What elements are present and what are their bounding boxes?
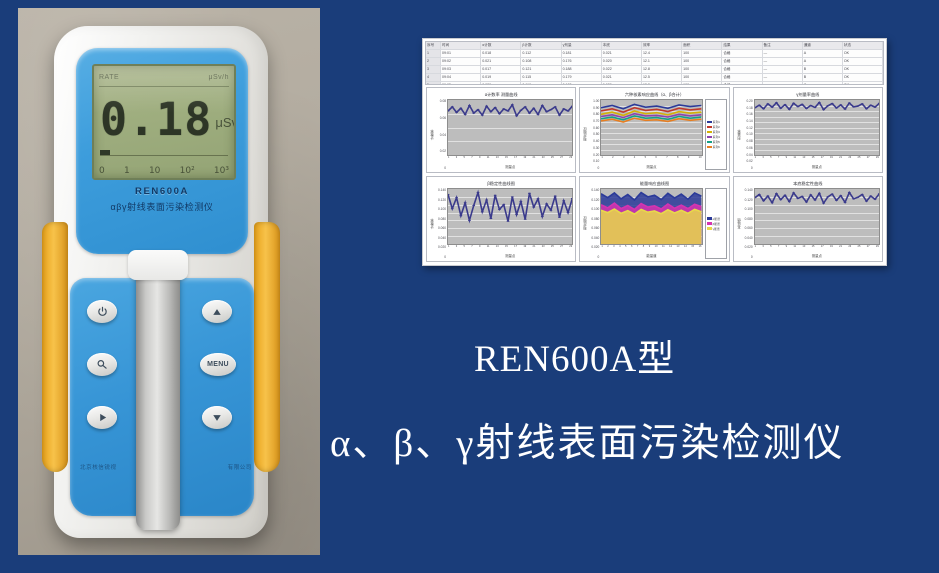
chart-data-point <box>494 195 497 196</box>
chart-data-point <box>826 105 829 106</box>
chart-x-tick: 17 <box>821 156 824 164</box>
chart-x-tick: 7 <box>666 156 667 164</box>
chart-data-point <box>448 194 449 195</box>
chart-body: 计数率0.080.060.040.02013579111315171921232… <box>429 99 573 170</box>
chart-data-point <box>528 112 531 113</box>
chart-data-point <box>822 202 825 203</box>
chart-x-tick: 6 <box>655 156 656 164</box>
chart-data-point <box>507 110 510 111</box>
chart-data-point <box>485 106 488 107</box>
lcd-display: RATE μSv/h 0.18 μSv/h 011010²10³ <box>92 64 236 180</box>
chart-data-point <box>757 194 760 195</box>
chart-x-tick: 8 <box>677 156 678 164</box>
chart-y-tick: 0.040 <box>591 236 599 240</box>
chart-x-tick: 11 <box>793 156 796 164</box>
chart-data-point <box>830 103 833 104</box>
chart-y-tick: 0.060 <box>745 226 753 230</box>
chart-x-axis-label: 测量点 <box>447 164 573 170</box>
chart-y-tick: 0 <box>444 166 446 170</box>
chart-x-tick: 15 <box>812 156 815 164</box>
chart-x-tick: 1 <box>601 245 602 253</box>
table-header-cell: 时间 <box>441 42 481 49</box>
chart-x-tick: 13 <box>496 245 499 253</box>
table-cell: — <box>763 58 803 65</box>
chart-legend-item: γ能谱 <box>707 227 725 231</box>
chart-x-tick: 1 <box>755 156 756 164</box>
chart-y-tick: 0.020 <box>591 245 599 249</box>
table-cell: 0.110 <box>521 82 561 85</box>
chart-legend-swatch <box>707 126 712 129</box>
chart-series-系列1 <box>601 104 701 108</box>
chart-data-point <box>532 206 535 207</box>
chart-plot-column: 1357911131517192123252729测量点 <box>754 99 880 170</box>
chart-title: α计数率 测量曲线 <box>429 90 573 99</box>
chart-data-point <box>766 195 769 196</box>
chart-x-tick: 5 <box>464 156 465 164</box>
device-upper-faceplate: RATE μSv/h 0.18 μSv/h 011010²10³ R <box>76 48 248 254</box>
chart-series-本底值 <box>755 193 879 204</box>
lcd-value: 0.18 <box>100 97 212 142</box>
table-cell: 100 <box>682 66 722 73</box>
chart-x-tick: 1 <box>755 245 756 253</box>
chart-data-point <box>541 216 544 217</box>
chart-x-tick: 25 <box>551 156 554 164</box>
chart-data-point <box>489 218 492 219</box>
table-cell: OK <box>843 82 883 85</box>
chart-data-point <box>762 200 765 201</box>
chart-data-point <box>865 201 868 202</box>
radiation-detector-device: RATE μSv/h 0.18 μSv/h 011010²10³ R <box>40 26 282 538</box>
chart-x-tick: 19 <box>523 245 526 253</box>
chart-data-point <box>796 198 799 199</box>
table-cell: 0.112 <box>521 50 561 57</box>
chart-body: 本底值0.1400.1200.1000.0800.0600.0400.02001… <box>736 188 880 259</box>
chart-body: 剂量率0.200.180.160.140.120.100.080.060.040… <box>736 99 880 170</box>
chart-data-point <box>843 108 846 109</box>
chart-x-tick: 15 <box>505 245 508 253</box>
device-footer-right: 有限公司 <box>228 463 252 471</box>
chart-legend-item: α能谱 <box>707 217 725 221</box>
chart-data-point <box>468 105 471 106</box>
table-cell: 0.021 <box>602 74 642 81</box>
chart-data-point <box>847 192 850 193</box>
chart-legend-item: 系列6 <box>707 145 725 149</box>
chart-y-tick: 0.120 <box>438 198 446 202</box>
chart-data-point <box>511 196 514 197</box>
chart-data-point <box>757 105 760 106</box>
chart-data-point <box>528 193 531 194</box>
chart-data-point <box>515 115 518 116</box>
table-cell: 09:03 <box>441 66 481 73</box>
table-cell: — <box>763 82 803 85</box>
chart-x-tick: 7 <box>778 245 779 253</box>
menu-button[interactable]: MENU <box>200 353 236 376</box>
chart-x-tick: 21 <box>839 156 842 164</box>
measurement-data-table: 序号时间α计数β计数γ剂量本底效率面积结果备注通道状态109:010.0180.… <box>425 41 884 85</box>
chart-x-tick: 11 <box>662 245 665 253</box>
chart-x-tick: 19 <box>830 245 833 253</box>
chart-legend-swatch <box>707 131 712 134</box>
table-cell: — <box>763 50 803 57</box>
chart-x-tick: 17 <box>514 245 517 253</box>
chart-data-point <box>502 108 505 109</box>
chart-x-axis-label: 能量道 <box>600 253 702 259</box>
table-cell: 0.021 <box>602 50 642 57</box>
chart-y-tick: 0.20 <box>593 153 599 157</box>
chart-plot-column: 1357911131517192123252729测量点 <box>447 188 573 259</box>
table-cell: 合格 <box>722 66 762 73</box>
table-header-cell: 效率 <box>642 42 682 49</box>
chart-x-tick: 23 <box>848 245 851 253</box>
chart-x-tick: 23 <box>542 156 545 164</box>
lcd-bargraph <box>100 148 228 156</box>
chart-data-point <box>792 103 795 104</box>
chart-x-tick: 13 <box>802 245 805 253</box>
chart-chart-multi-nuclide: 六种核素响应曲线（α、β合计）相对响应1.000.900.800.700.600… <box>579 87 729 173</box>
chart-x-tick: 27 <box>867 245 870 253</box>
chart-x-tick: 13 <box>496 156 499 164</box>
play-button[interactable] <box>87 406 117 429</box>
chart-y-tick: 0.020 <box>438 245 446 249</box>
chart-legend-label: 系列2 <box>713 125 720 129</box>
chart-x-ticks: 1357911131517192123252729 <box>754 156 880 164</box>
table-cell: OK <box>843 74 883 81</box>
chart-data-point <box>515 214 518 215</box>
chart-x-tick: 16 <box>699 245 702 253</box>
chart-y-tick: 0.06 <box>746 146 752 150</box>
chart-data-point <box>822 109 825 110</box>
lcd-reading: 0.18 μSv/h <box>100 90 228 148</box>
chart-x-tick: 10 <box>655 245 658 253</box>
chart-data-point <box>532 108 535 109</box>
chart-data-point <box>783 195 786 196</box>
chart-y-tick: 0.10 <box>746 132 752 136</box>
table-cell: OK <box>843 58 883 65</box>
table-cell: — <box>763 74 803 81</box>
chart-legend-label: 系列4 <box>713 135 720 139</box>
chart-plot-area <box>447 99 573 156</box>
table-cell: 100 <box>682 50 722 57</box>
chart-x-tick: 9 <box>479 245 480 253</box>
chart-data-point <box>567 110 570 111</box>
chart-data-point <box>770 106 773 107</box>
chart-x-ticks: 12345678910 <box>600 156 702 164</box>
table-cell: OK <box>843 50 883 57</box>
chart-y-axis-label: 相对响应 <box>582 188 588 259</box>
chart-data-point <box>507 221 510 222</box>
chart-data-point <box>558 114 561 115</box>
chart-y-tick: 0.16 <box>746 112 752 116</box>
chart-y-tick: 0 <box>751 166 753 170</box>
chart-y-tick: 0.060 <box>591 226 599 230</box>
chart-y-tick: 0.140 <box>591 188 599 192</box>
table-cell: A <box>803 50 843 57</box>
chart-x-tick: 3 <box>762 156 763 164</box>
magnifier-icon <box>96 359 108 370</box>
lcd-divider <box>99 86 229 87</box>
chart-data-point <box>835 107 838 108</box>
device-handle-strap <box>136 262 180 530</box>
chart-data-point <box>464 202 467 203</box>
chart-data-point <box>537 198 540 199</box>
table-cell: 3 <box>426 66 441 73</box>
device-grip-left <box>42 222 68 472</box>
chart-y-tick: 0.020 <box>745 245 753 249</box>
table-header-cell: 备注 <box>763 42 803 49</box>
chart-x-tick: 7 <box>637 245 638 253</box>
chart-data-point <box>541 105 544 106</box>
triangle-down-icon <box>211 413 223 423</box>
chart-x-tick: 2 <box>607 245 608 253</box>
chart-y-axis-label: 计数率 <box>429 188 435 259</box>
table-cell: 0.176 <box>562 58 602 65</box>
table-cell: 12.2 <box>642 82 682 85</box>
chart-x-tick: 27 <box>560 156 563 164</box>
chart-y-tick: 0.80 <box>593 112 599 116</box>
chart-x-tick: 15 <box>691 245 694 253</box>
chart-data-point <box>567 212 570 213</box>
table-cell: 0.022 <box>602 66 642 73</box>
chart-x-tick: 5 <box>770 156 771 164</box>
device-model-label: REN600A <box>76 186 248 197</box>
chart-x-tick: 9 <box>786 245 787 253</box>
table-cell: 09:04 <box>441 74 481 81</box>
table-header-cell: 本底 <box>602 42 642 49</box>
chart-x-tick: 21 <box>533 245 536 253</box>
slide-title-line2: α、β、γ射线表面污染检测仪 <box>330 412 845 468</box>
chart-x-tick: 21 <box>839 245 842 253</box>
chart-x-tick: 5 <box>770 245 771 253</box>
chart-x-ticks: 12345678910111213141516 <box>600 245 702 253</box>
chart-data-point <box>524 219 527 220</box>
chart-y-tick: 0.140 <box>438 188 446 192</box>
chart-x-tick: 7 <box>778 156 779 164</box>
chart-y-tick: 0.060 <box>438 226 446 230</box>
chart-data-point <box>873 199 876 200</box>
chart-y-tick: 0.40 <box>593 139 599 143</box>
chart-y-tick: 0 <box>598 166 600 170</box>
chart-legend-label: γ能谱 <box>713 227 720 231</box>
chart-x-tick: 3 <box>623 156 624 164</box>
chart-y-axis-label: 相对响应 <box>582 99 588 170</box>
lcd-scale-tick: 10 <box>149 166 160 176</box>
chart-legend-item: 系列2 <box>707 125 725 129</box>
chart-legend-label: 系列3 <box>713 130 720 134</box>
chart-x-axis-label: 测量点 <box>600 164 702 170</box>
lcd-scale: 011010²10³ <box>99 166 229 176</box>
slide-title-line1: REN600A型 <box>474 328 675 382</box>
chart-y-tick: 0.18 <box>746 106 752 110</box>
chart-data-point <box>787 201 790 202</box>
chart-data-point <box>852 198 855 199</box>
chart-data-point <box>498 209 501 210</box>
chart-y-tick: 0.12 <box>746 126 752 130</box>
table-row: 409:040.0190.1150.1790.02112.5100合格—BOK <box>426 74 883 82</box>
down-button[interactable] <box>202 406 232 429</box>
chart-data-point <box>843 202 846 203</box>
chart-x-tick: 25 <box>858 156 861 164</box>
chart-y-tick: 0.20 <box>746 99 752 103</box>
table-cell: 0.020 <box>602 82 642 85</box>
chart-data-point <box>775 102 778 103</box>
chart-y-tick: 0.06 <box>440 116 446 120</box>
chart-legend-label: 系列5 <box>713 140 720 144</box>
chart-data-point <box>856 197 859 198</box>
table-cell: 0.115 <box>521 74 561 81</box>
lcd-status-left: RATE <box>99 74 119 81</box>
chart-x-tick: 13 <box>677 245 680 253</box>
chart-x-tick: 8 <box>643 245 644 253</box>
chart-y-tick: 0.14 <box>746 119 752 123</box>
search-button[interactable] <box>87 353 117 376</box>
power-button[interactable] <box>87 300 117 323</box>
up-button[interactable] <box>202 300 232 323</box>
chart-x-tick: 7 <box>471 245 472 253</box>
chart-y-axis-label: 本底值 <box>736 188 742 259</box>
chart-chart-gamma-rate: γ剂量率曲线剂量率0.200.180.160.140.120.100.080.0… <box>733 87 883 173</box>
table-cell: — <box>763 66 803 73</box>
chart-data-point <box>455 197 458 198</box>
chart-data-point <box>779 199 782 200</box>
chart-y-ticks: 0.1400.1200.1000.0800.0600.0400.0200 <box>742 188 754 259</box>
chart-plot-area <box>600 99 702 156</box>
chart-y-tick: 0.140 <box>745 188 753 192</box>
chart-x-tick: 6 <box>631 245 632 253</box>
table-cell: 09:02 <box>441 58 481 65</box>
chart-legend-item: 系列5 <box>707 140 725 144</box>
chart-data-point <box>852 106 855 107</box>
chart-data-point <box>459 108 462 109</box>
chart-data-point <box>800 104 803 105</box>
chart-plot-column: 12345678910111213141516能量道 <box>600 188 702 259</box>
chart-legend-item: 系列4 <box>707 135 725 139</box>
chart-data-point <box>826 196 829 197</box>
table-row: 209:020.0210.1080.1760.02012.1100合格—AOK <box>426 58 883 66</box>
chart-title: 能量响应曲线图 <box>582 179 726 188</box>
chart-x-tick: 9 <box>688 156 689 164</box>
chart-y-ticks: 0.080.060.040.020 <box>435 99 447 170</box>
chart-data-point <box>787 109 790 110</box>
chart-x-tick: 12 <box>669 245 672 253</box>
chart-plot-area <box>600 188 702 245</box>
chart-x-tick: 2 <box>612 156 613 164</box>
chart-data-point <box>477 192 480 193</box>
chart-data-point <box>554 195 557 196</box>
table-header-cell: β计数 <box>521 42 561 49</box>
chart-series-β计数率 <box>448 193 572 222</box>
chart-gridline <box>448 155 572 156</box>
chart-x-tick: 1 <box>448 156 449 164</box>
table-cell: 0.179 <box>562 74 602 81</box>
chart-x-tick: 17 <box>821 245 824 253</box>
chart-data-point <box>571 198 572 199</box>
chart-data-point <box>481 114 484 115</box>
chart-title: β稳定性曲线图 <box>429 179 573 188</box>
chart-body: 相对响应1.000.900.800.700.600.500.400.300.20… <box>582 99 726 170</box>
chart-x-tick: 5 <box>464 245 465 253</box>
chart-legend-swatch <box>707 121 712 124</box>
chart-data-point <box>817 102 820 103</box>
chart-x-ticks: 1357911131517192123252729 <box>447 245 573 253</box>
table-cell: 12.8 <box>642 66 682 73</box>
chart-y-tick: 0.04 <box>746 153 752 157</box>
chart-y-tick: 0 <box>598 255 600 259</box>
table-cell: 5 <box>426 82 441 85</box>
chart-x-tick: 25 <box>858 245 861 253</box>
device-grip-right <box>254 222 280 472</box>
chart-data-point <box>865 108 868 109</box>
chart-plot-area <box>754 188 880 245</box>
chart-chart-alpha-rate: α计数率 测量曲线计数率0.080.060.040.02013579111315… <box>426 87 576 173</box>
table-header-cell: 状态 <box>843 42 883 49</box>
chart-data-point <box>451 106 454 107</box>
table-cell: 0.018 <box>481 50 521 57</box>
triangle-up-icon <box>211 307 223 317</box>
chart-legend-swatch <box>707 146 712 149</box>
chart-data-point <box>792 192 795 193</box>
device-photo: RATE μSv/h 0.18 μSv/h 011010²10³ R <box>18 8 320 555</box>
lcd-scale-tick: 10² <box>180 166 195 176</box>
chart-data-point <box>472 205 475 206</box>
chart-data-point <box>796 106 799 107</box>
chart-x-tick: 27 <box>867 156 870 164</box>
chart-data-point <box>856 105 859 106</box>
chart-y-tick: 0 <box>751 255 753 259</box>
chart-series-系列2 <box>601 108 701 112</box>
chart-title: 本底稳定性曲线 <box>736 179 880 188</box>
chart-data-point <box>455 112 458 113</box>
table-cell: 0.108 <box>521 58 561 65</box>
chart-y-axis-label: 剂量率 <box>736 99 742 170</box>
chart-legend-label: 系列6 <box>713 145 720 149</box>
chart-data-point <box>549 109 552 110</box>
chart-title: γ剂量率曲线 <box>736 90 880 99</box>
chart-data-point <box>502 204 505 205</box>
table-cell: 1 <box>426 50 441 57</box>
chart-data-point <box>477 109 480 110</box>
chart-data-point <box>524 106 527 107</box>
chart-y-tick: 0.04 <box>440 133 446 137</box>
chart-x-tick: 11 <box>487 156 490 164</box>
chart-x-tick: 9 <box>479 156 480 164</box>
table-header-cell: γ剂量 <box>562 42 602 49</box>
chart-data-point <box>498 113 501 114</box>
chart-y-tick: 0.90 <box>593 106 599 110</box>
chart-y-tick: 0.080 <box>745 217 753 221</box>
table-cell: 4 <box>426 74 441 81</box>
chart-data-point <box>775 193 778 194</box>
chart-data-point <box>464 114 467 115</box>
chart-legend-swatch <box>707 222 712 225</box>
lcd-unit: μSv/h <box>215 115 236 130</box>
chart-data-point <box>779 108 782 109</box>
chart-data-point <box>766 103 769 104</box>
chart-legend-swatch <box>707 136 712 139</box>
table-header-cell: 结果 <box>722 42 762 49</box>
chart-legend-item: β能谱 <box>707 222 725 226</box>
chart-x-tick: 3 <box>762 245 763 253</box>
table-cell: C <box>803 82 843 85</box>
chart-legend-swatch <box>707 227 712 230</box>
chart-x-tick: 11 <box>487 245 490 253</box>
table-cell: 2 <box>426 58 441 65</box>
chart-chart-bg-stability: 本底稳定性曲线本底值0.1400.1200.1000.0800.0600.040… <box>733 176 883 262</box>
charts-grid: α计数率 测量曲线计数率0.080.060.040.02013579111315… <box>426 87 883 262</box>
chart-y-tick: 0.50 <box>593 132 599 136</box>
chart-x-ticks: 1357911131517192123252729 <box>754 245 880 253</box>
chart-data-point <box>562 108 565 109</box>
chart-data-point <box>813 107 816 108</box>
